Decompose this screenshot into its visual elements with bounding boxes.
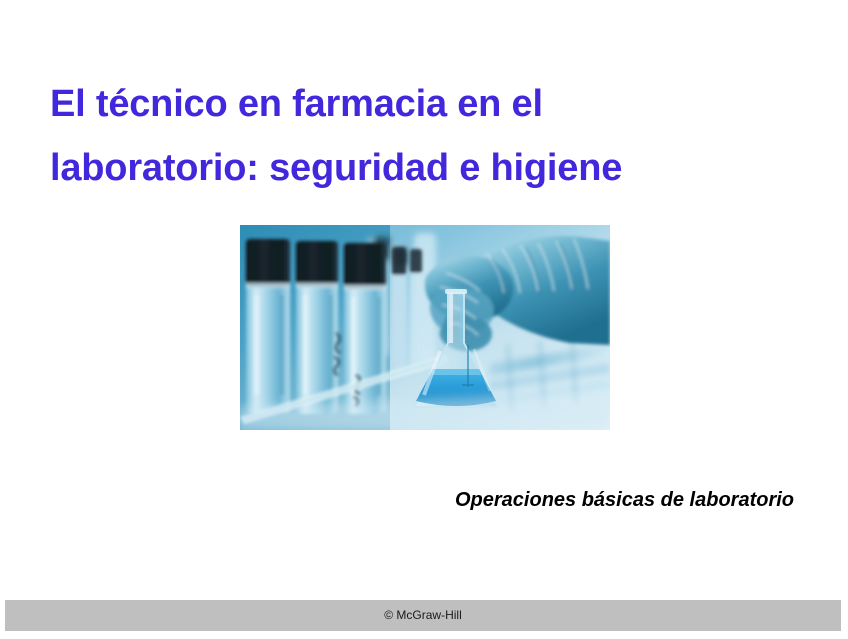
page-title: El técnico en farmacia en el laboratorio… bbox=[50, 72, 750, 200]
title-line-1: El técnico en farmacia en el bbox=[50, 72, 750, 136]
copyright-text: © McGraw-Hill bbox=[5, 600, 841, 631]
subtitle-text: Operaciones básicas de laboratorio bbox=[455, 487, 825, 513]
footer-bar: © McGraw-Hill bbox=[5, 600, 841, 631]
slide-canvas: El técnico en farmacia en el laboratorio… bbox=[0, 0, 848, 639]
title-line-2: laboratorio: seguridad e higiene bbox=[50, 136, 750, 200]
laboratory-photo-illustration bbox=[240, 225, 610, 430]
laboratory-photo bbox=[240, 225, 610, 430]
